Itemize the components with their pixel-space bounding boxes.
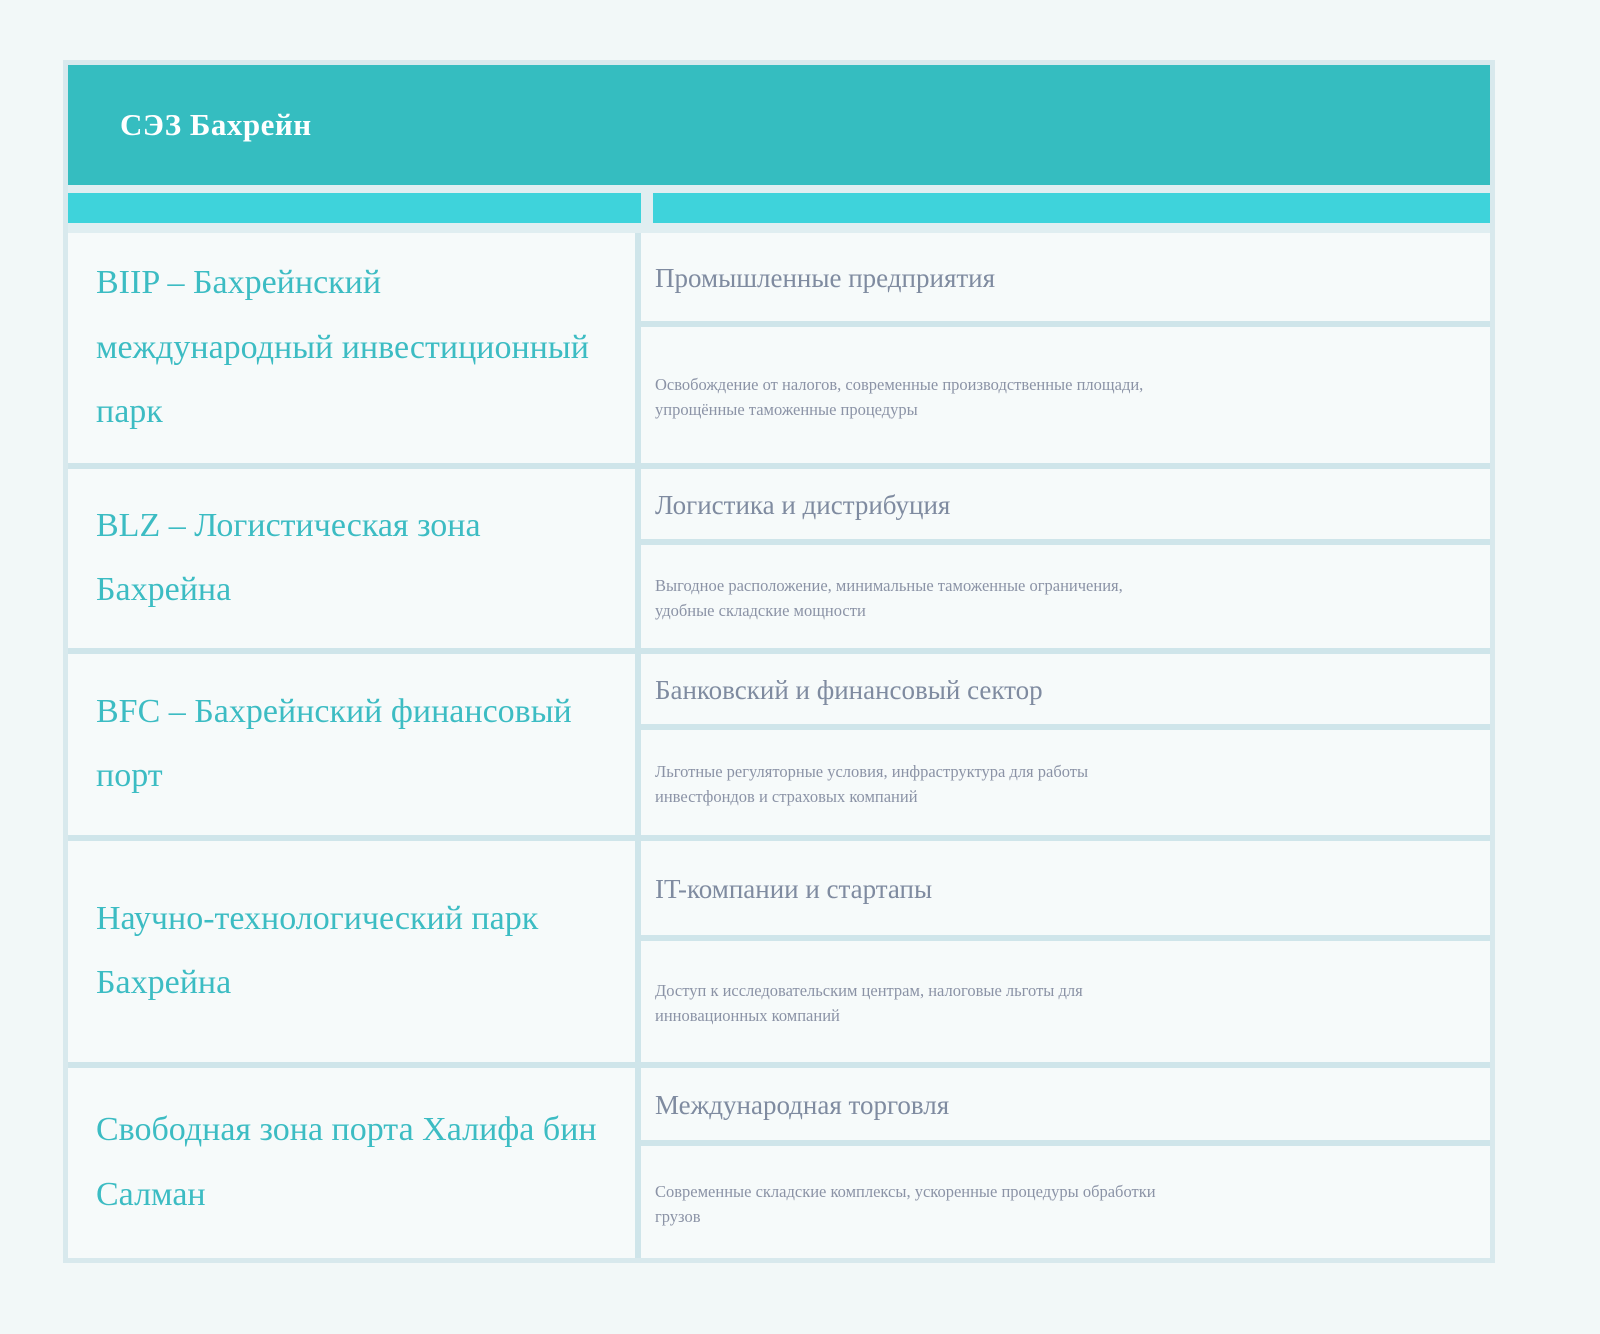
zone-cell: BIIP – Бахрейнский международный инвести… [68,233,641,463]
column-header-row [68,193,1490,223]
zone-name: BFC – Бахрейнский финансовый порт [96,680,609,809]
benefits-cell: Освобождение от налогов, современные про… [641,321,1490,463]
benefits-text: Выгодное расположение, минимальные тамож… [655,573,1175,623]
zone-name: BIIP – Бахрейнский международный инвести… [96,251,609,445]
details-cell: Промышленные предприятия Освобождение от… [641,233,1490,463]
details-cell: IT-компании и стартапы Доступ к исследов… [641,841,1490,1062]
table-row: BLZ – Логистическая зона Бахрейна Логист… [68,463,1490,648]
sector-cell: Промышленные предприятия [641,233,1490,321]
sez-table: СЭЗ Бахрейн BIIP – Бахрейнский междунаро… [63,60,1495,1263]
zone-cell: BLZ – Логистическая зона Бахрейна [68,469,641,648]
benefits-cell: Современные складские комплексы, ускорен… [641,1140,1490,1258]
zone-name: Свободная зона порта Халифа бин Салман [96,1098,609,1227]
sector-cell: Банковский и финансовый сектор [641,654,1490,724]
sector-name: Логистика и дистрибуция [655,487,950,523]
details-cell: Банковский и финансовый сектор Льготные … [641,654,1490,835]
benefits-text: Доступ к исследовательским центрам, нало… [655,978,1175,1028]
benefits-cell: Выгодное расположение, минимальные тамож… [641,539,1490,648]
zone-cell: Научно-технологический парк Бахрейна [68,841,641,1062]
table-row: Научно-технологический парк Бахрейна IT-… [68,835,1490,1062]
sector-name: IT-компании и стартапы [655,871,932,907]
sector-cell: Логистика и дистрибуция [641,469,1490,539]
sector-name: Банковский и финансовый сектор [655,672,1043,708]
details-cell: Логистика и дистрибуция Выгодное располо… [641,469,1490,648]
column-header-sector [653,193,1490,223]
benefits-cell: Доступ к исследовательским центрам, нало… [641,935,1490,1062]
table-title-bar: СЭЗ Бахрейн [68,65,1490,185]
sector-cell: Международная торговля [641,1068,1490,1140]
benefits-text: Освобождение от налогов, современные про… [655,372,1175,422]
table-body: BIIP – Бахрейнский международный инвести… [68,233,1490,1258]
sector-cell: IT-компании и стартапы [641,841,1490,935]
column-header-zone [68,193,641,223]
zone-name: BLZ – Логистическая зона Бахрейна [96,494,609,623]
table-row: BFC – Бахрейнский финансовый порт Банков… [68,648,1490,835]
benefits-text: Льготные регуляторные условия, инфрастру… [655,759,1175,809]
sector-name: Промышленные предприятия [655,260,995,296]
sector-name: Международная торговля [655,1087,949,1123]
zone-cell: BFC – Бахрейнский финансовый порт [68,654,641,835]
page-title: СЭЗ Бахрейн [120,108,312,142]
zone-cell: Свободная зона порта Халифа бин Салман [68,1068,641,1258]
details-cell: Международная торговля Современные склад… [641,1068,1490,1258]
zone-name: Научно-технологический парк Бахрейна [96,887,609,1016]
table-row: BIIP – Бахрейнский международный инвести… [68,233,1490,463]
page-root: СЭЗ Бахрейн BIIP – Бахрейнский междунаро… [0,0,1600,1334]
benefits-text: Современные складские комплексы, ускорен… [655,1179,1175,1229]
table-row: Свободная зона порта Халифа бин Салман М… [68,1062,1490,1258]
benefits-cell: Льготные регуляторные условия, инфрастру… [641,724,1490,835]
